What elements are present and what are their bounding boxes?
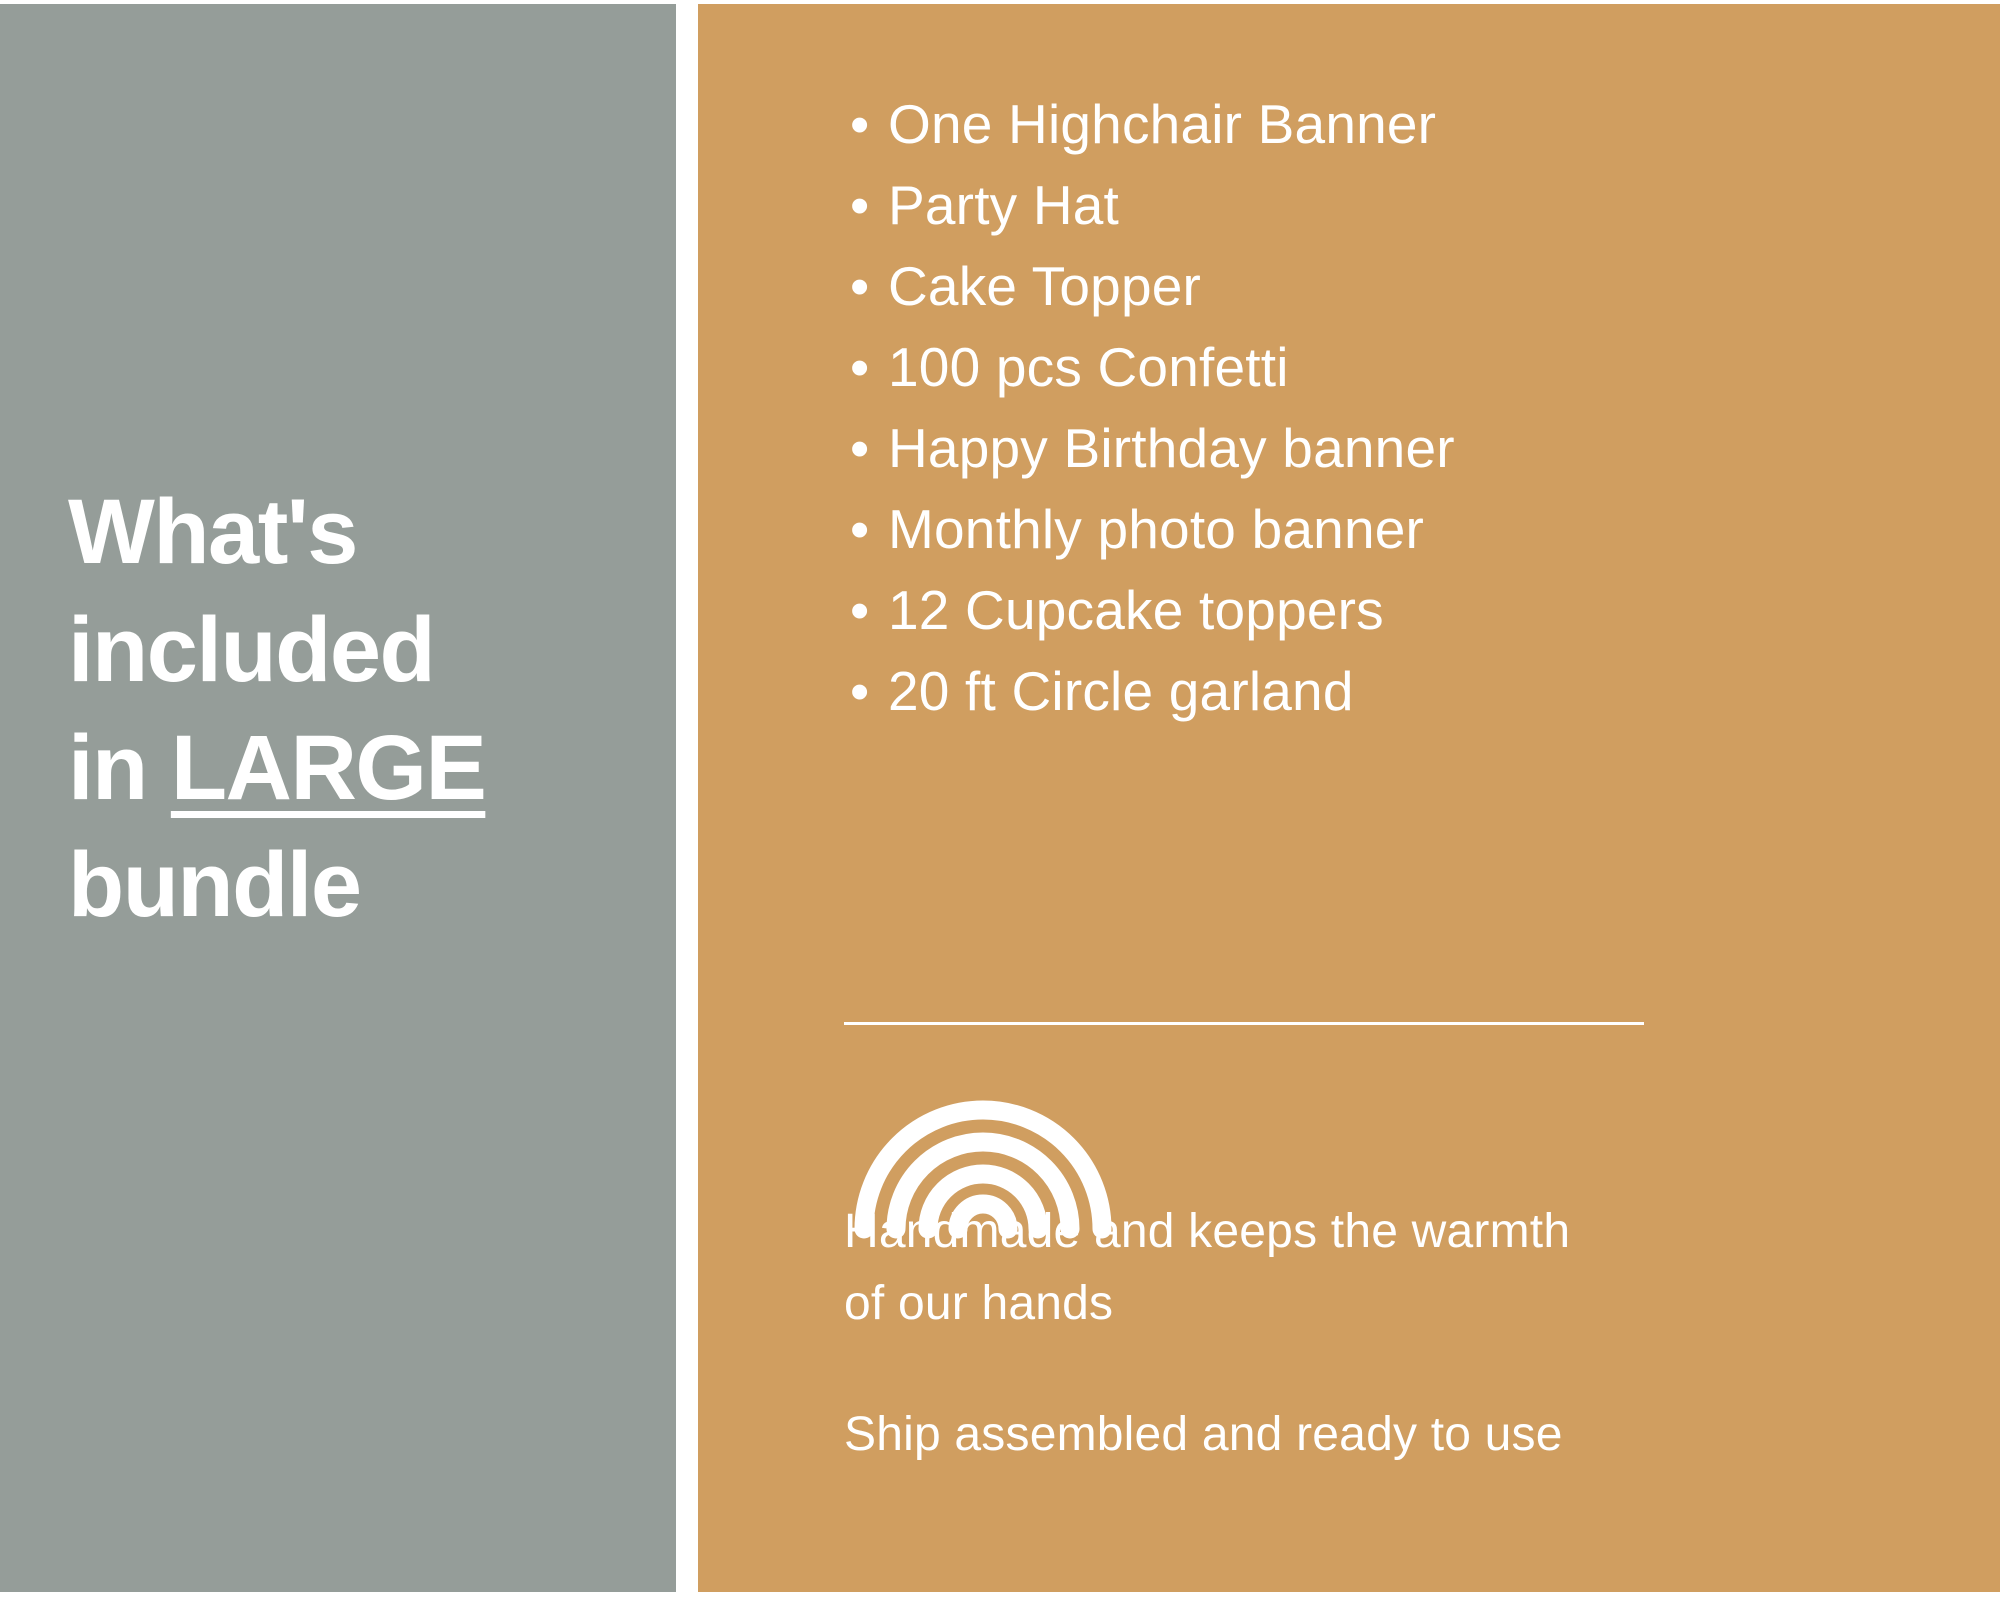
included-items-list: • One Highchair Banner • Party Hat • Cak… bbox=[698, 92, 2000, 740]
heading-line-3-prefix: in bbox=[68, 717, 171, 819]
horizontal-divider bbox=[844, 1022, 1644, 1025]
list-item-label: Monthly photo banner bbox=[888, 497, 1424, 561]
list-item: • 20 ft Circle garland bbox=[698, 659, 2000, 723]
heading-line-1: What's bbox=[68, 474, 648, 592]
bullet-icon: • bbox=[850, 416, 888, 480]
page-title: What's included in LARGE bundle bbox=[68, 474, 648, 945]
right-panel: • One Highchair Banner • Party Hat • Cak… bbox=[698, 4, 2000, 1592]
bullet-icon: • bbox=[850, 659, 888, 723]
list-item-label: Party Hat bbox=[888, 173, 1119, 237]
heading-line-4: bundle bbox=[68, 827, 648, 945]
list-item-label: 100 pcs Confetti bbox=[888, 335, 1289, 399]
tagline: Handmade and keeps the warmth of our han… bbox=[844, 1196, 1864, 1340]
tagline-line-1: Handmade and keeps the warmth bbox=[844, 1196, 1864, 1268]
left-panel: What's included in LARGE bundle bbox=[0, 4, 676, 1592]
bullet-icon: • bbox=[850, 578, 888, 642]
heading-line-2: included bbox=[68, 592, 648, 710]
list-item-label: 20 ft Circle garland bbox=[888, 659, 1354, 723]
list-item-label: Happy Birthday banner bbox=[888, 416, 1455, 480]
promo-card: What's included in LARGE bundle • One Hi… bbox=[0, 0, 2000, 1600]
list-item-label: 12 Cupcake toppers bbox=[888, 578, 1384, 642]
list-item-label: Cake Topper bbox=[888, 254, 1201, 318]
list-item: • Cake Topper bbox=[698, 254, 2000, 318]
list-item: • One Highchair Banner bbox=[698, 92, 2000, 156]
bullet-icon: • bbox=[850, 173, 888, 237]
bullet-icon: • bbox=[850, 92, 888, 156]
list-item: • Monthly photo banner bbox=[698, 497, 2000, 561]
list-item: • Party Hat bbox=[698, 173, 2000, 237]
ship-note: Ship assembled and ready to use bbox=[844, 1404, 1924, 1466]
list-item: • 12 Cupcake toppers bbox=[698, 578, 2000, 642]
tagline-line-2: of our hands bbox=[844, 1268, 1864, 1340]
heading-emphasis-large: LARGE bbox=[171, 717, 486, 819]
list-item-label: One Highchair Banner bbox=[888, 92, 1436, 156]
bullet-icon: • bbox=[850, 335, 888, 399]
bullet-icon: • bbox=[850, 254, 888, 318]
heading-line-3: in LARGE bbox=[68, 710, 648, 828]
list-item: • Happy Birthday banner bbox=[698, 416, 2000, 480]
list-item: • 100 pcs Confetti bbox=[698, 335, 2000, 399]
bullet-icon: • bbox=[850, 497, 888, 561]
